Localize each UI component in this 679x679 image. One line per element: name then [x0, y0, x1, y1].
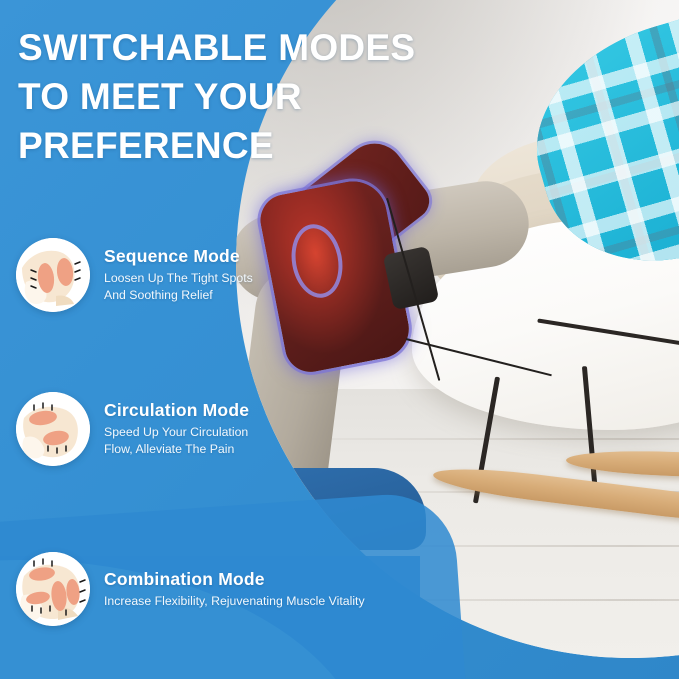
feature-subtitle-line: And Soothing Relief — [104, 287, 253, 304]
feature-item-sequence-mode: Sequence Mode Loosen Up The Tight Spots … — [16, 238, 253, 312]
feature-subtitle-line: Flow, Alleviate The Pain — [104, 441, 249, 458]
feature-subtitle-line: Loosen Up The Tight Spots — [104, 270, 253, 287]
feature-subtitle: Loosen Up The Tight Spots And Soothing R… — [104, 270, 253, 304]
feature-subtitle-line: Increase Flexibility, Rejuvenating Muscl… — [104, 593, 365, 610]
feature-subtitle: Speed Up Your Circulation Flow, Alleviat… — [104, 424, 249, 458]
product-feature-poster: SWITCHABLE MODES TO MEET YOUR PREFERENCE… — [0, 0, 679, 679]
feature-item-combination-mode: Combination Mode Increase Flexibility, R… — [16, 552, 365, 626]
knee-massage-combination-icon — [16, 552, 90, 626]
feature-text-block: Combination Mode Increase Flexibility, R… — [104, 569, 365, 610]
feature-text-block: Circulation Mode Speed Up Your Circulati… — [104, 400, 249, 458]
feature-title: Circulation Mode — [104, 400, 249, 421]
page-title: SWITCHABLE MODES TO MEET YOUR PREFERENCE — [18, 24, 418, 170]
headline-line-3: PREFERENCE — [18, 122, 418, 171]
feature-subtitle-line: Speed Up Your Circulation — [104, 424, 249, 441]
headline-line-2: TO MEET YOUR — [18, 73, 418, 122]
feature-title: Combination Mode — [104, 569, 365, 590]
person-shoe — [236, 468, 426, 550]
feature-subtitle: Increase Flexibility, Rejuvenating Muscl… — [104, 593, 365, 610]
knee-massage-sequence-icon — [16, 238, 90, 312]
feature-item-circulation-mode: Circulation Mode Speed Up Your Circulati… — [16, 392, 249, 466]
knee-massage-circulation-icon — [16, 392, 90, 466]
feature-title: Sequence Mode — [104, 246, 253, 267]
headline-line-1: SWITCHABLE MODES — [18, 24, 418, 73]
feature-text-block: Sequence Mode Loosen Up The Tight Spots … — [104, 246, 253, 304]
